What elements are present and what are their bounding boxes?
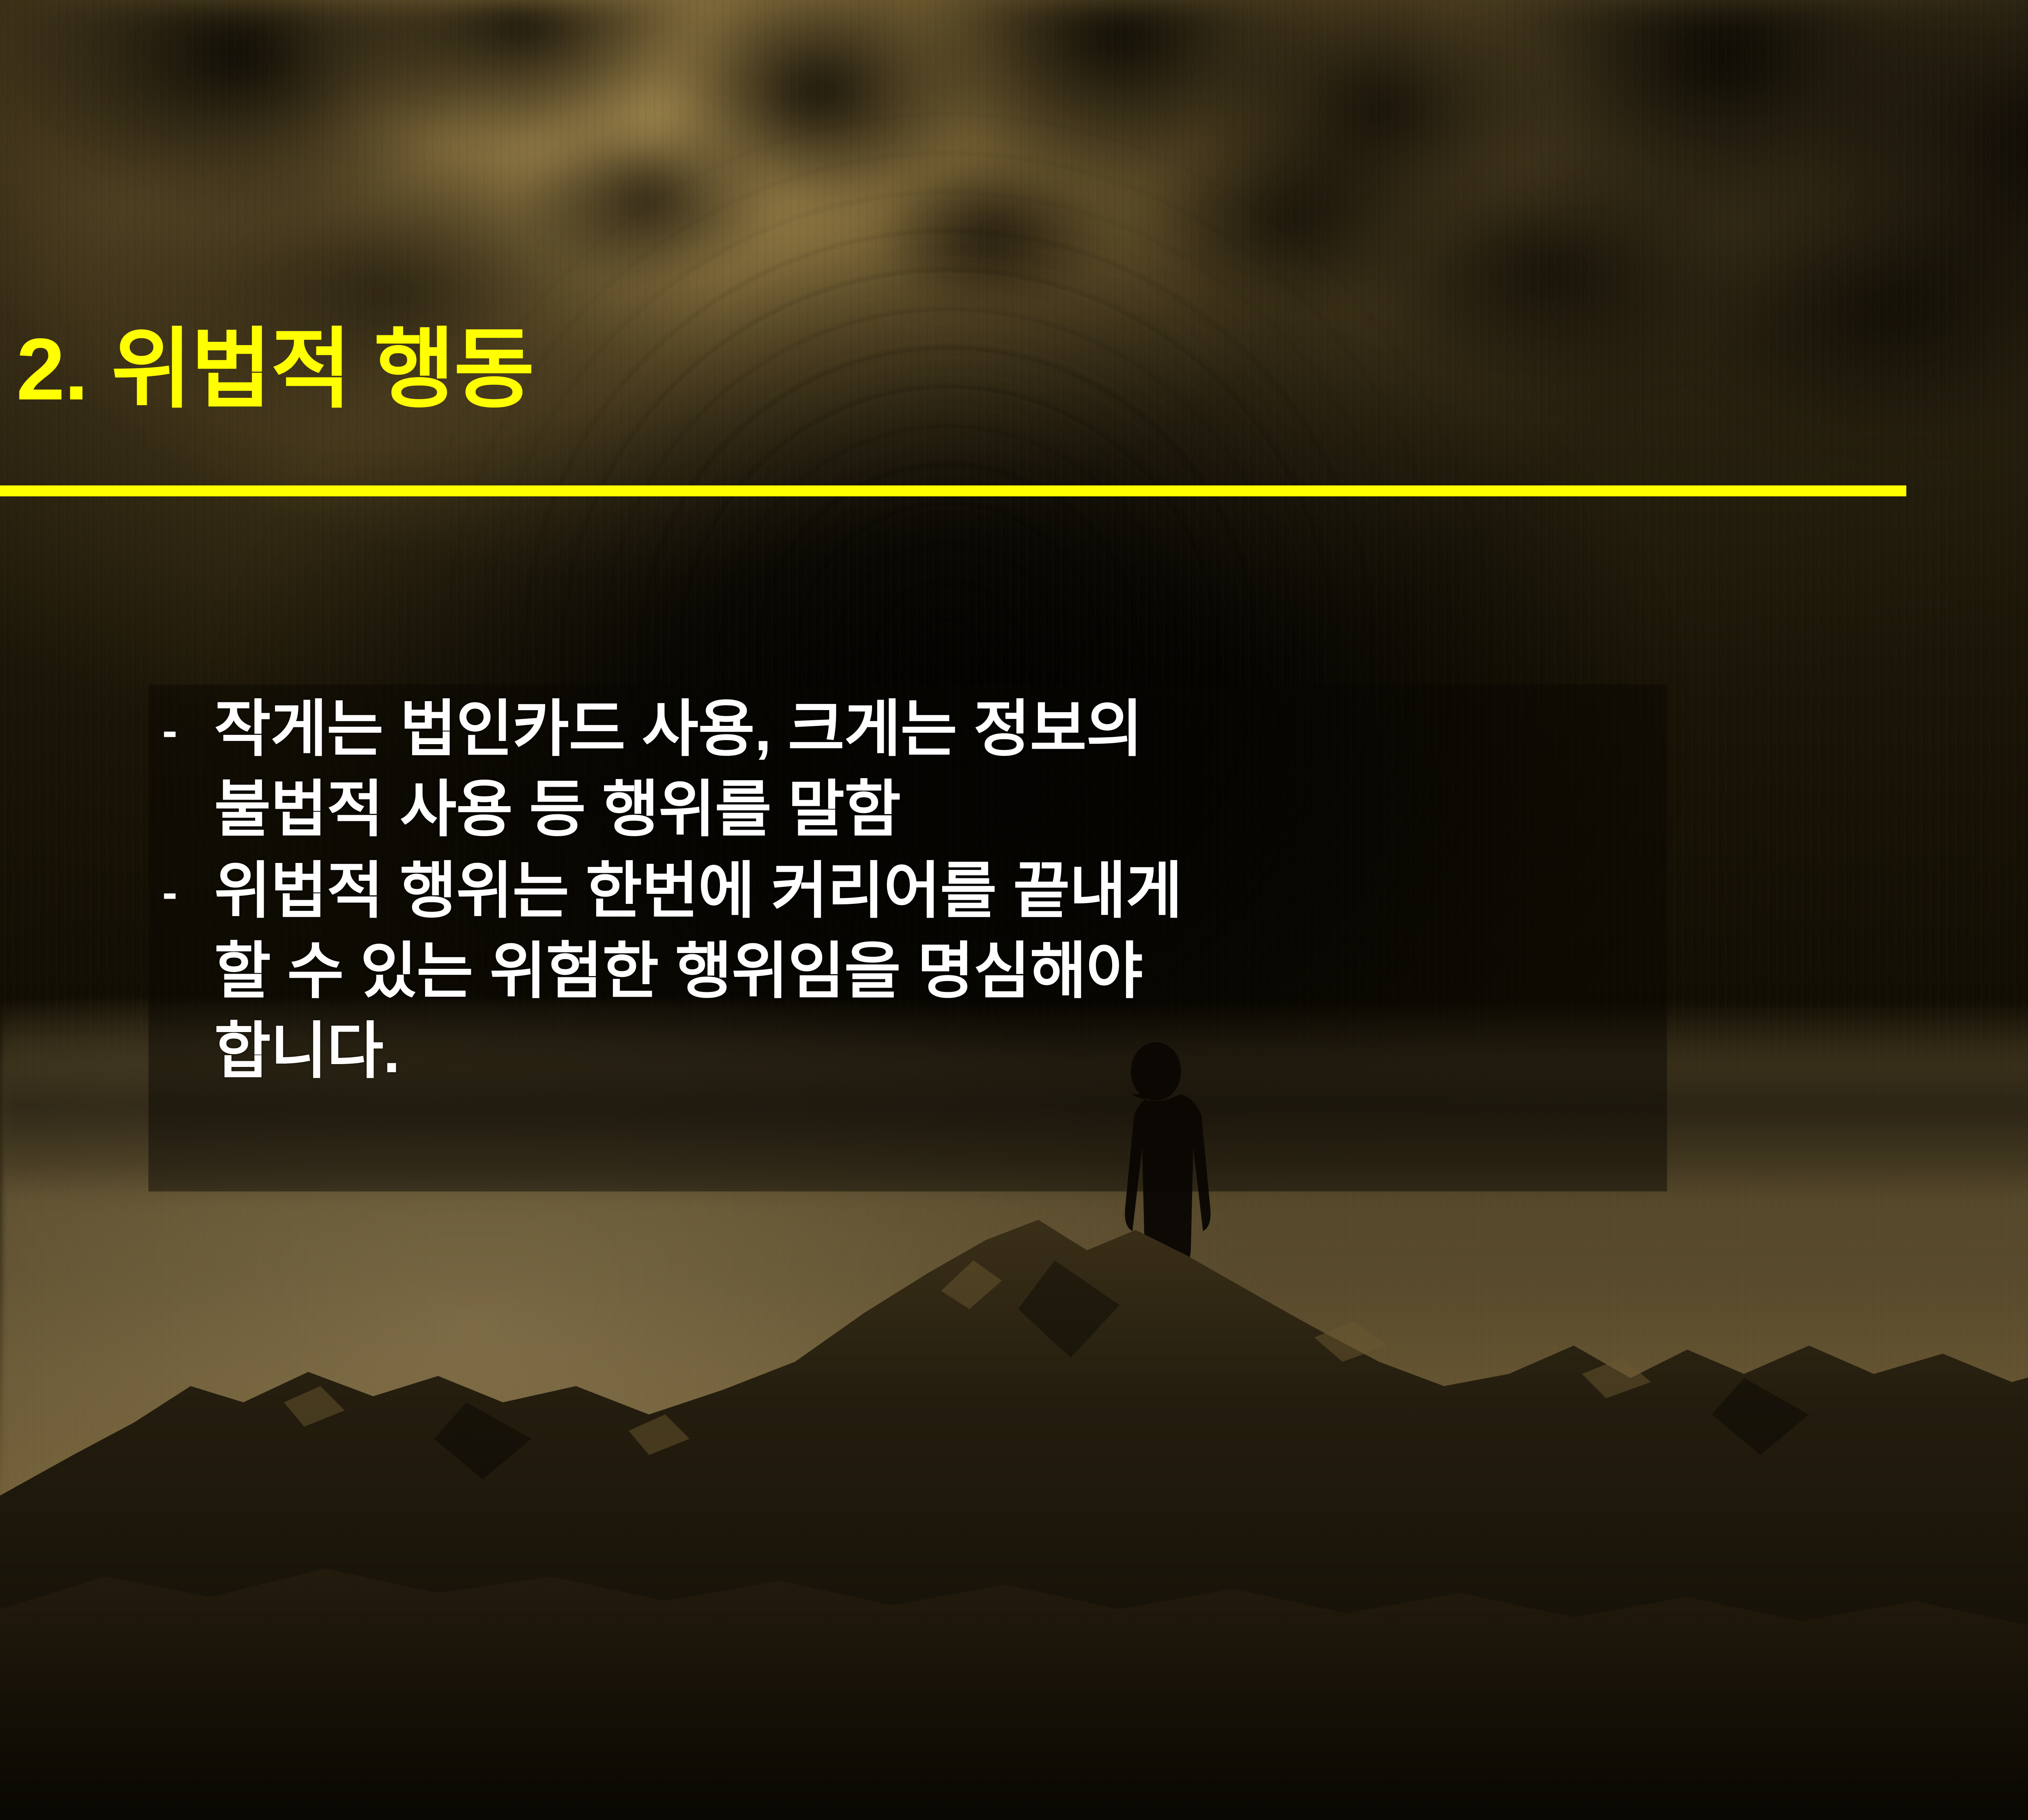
list-item: - 위법적 행위는 한번에 커리어를 끝내게 할 수 있는 위험한 행위임을 명… xyxy=(161,851,1678,1092)
presentation-slide: 2. 위법적 행동 - 작게는 법인카드 사용, 크게는 정보의 불법적 사용 … xyxy=(0,0,2028,1820)
bullet-line: 불법적 사용 등 행위를 말함 xyxy=(214,770,1678,850)
list-item: - 작게는 법인카드 사용, 크게는 정보의 불법적 사용 등 행위를 말함 xyxy=(161,689,1678,850)
bullet-dash-marker: - xyxy=(161,851,214,923)
title-underline-rule xyxy=(0,485,1906,496)
bullet-text: 작게는 법인카드 사용, 크게는 정보의 불법적 사용 등 행위를 말함 xyxy=(214,689,1678,850)
bullet-line: 합니다. xyxy=(214,1011,1678,1092)
bullet-line: 할 수 있는 위험한 행위임을 명심해야 xyxy=(214,931,1678,1012)
bullet-list: - 작게는 법인카드 사용, 크게는 정보의 불법적 사용 등 행위를 말함 -… xyxy=(161,689,1678,1093)
bullet-line: 작게는 법인카드 사용, 크게는 정보의 xyxy=(214,689,1678,770)
foreground-rock-ridge xyxy=(0,1212,2028,1820)
bullet-text: 위법적 행위는 한번에 커리어를 끝내게 할 수 있는 위험한 행위임을 명심해… xyxy=(214,851,1678,1092)
slide-title: 2. 위법적 행동 xyxy=(16,320,534,419)
bullet-dash-marker: - xyxy=(161,689,214,762)
bullet-line: 위법적 행위는 한번에 커리어를 끝내게 xyxy=(214,851,1678,931)
